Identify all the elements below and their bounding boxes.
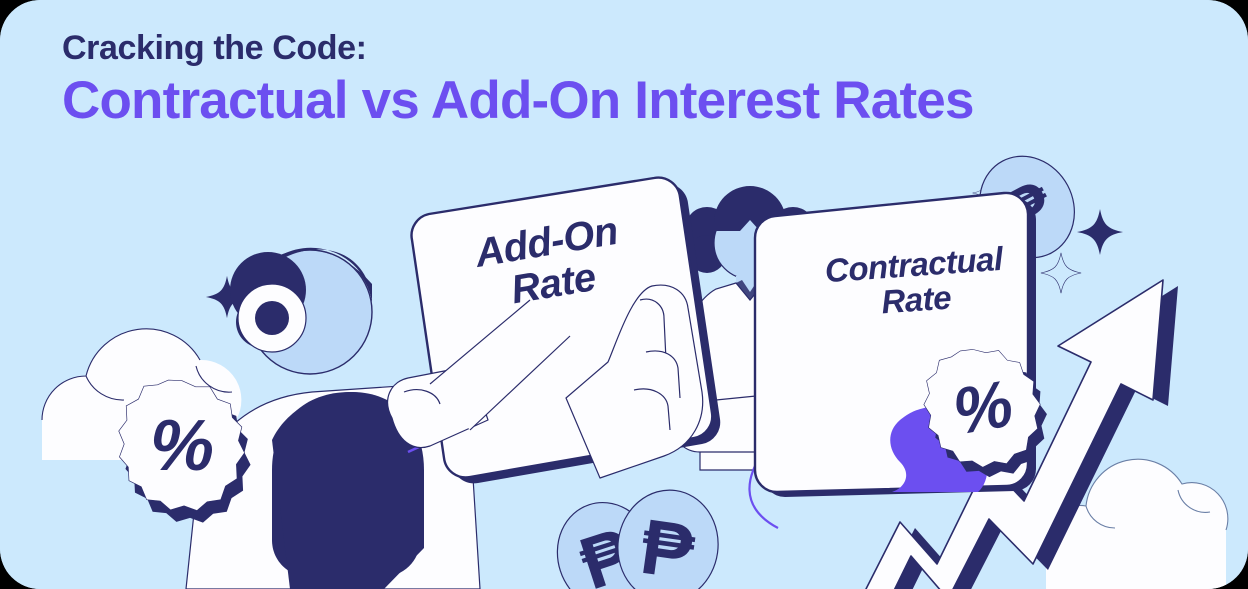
percent-symbol: % <box>150 406 214 486</box>
illustration: ₱ <box>0 0 1248 589</box>
hero-banner: ₱ <box>0 0 1248 589</box>
